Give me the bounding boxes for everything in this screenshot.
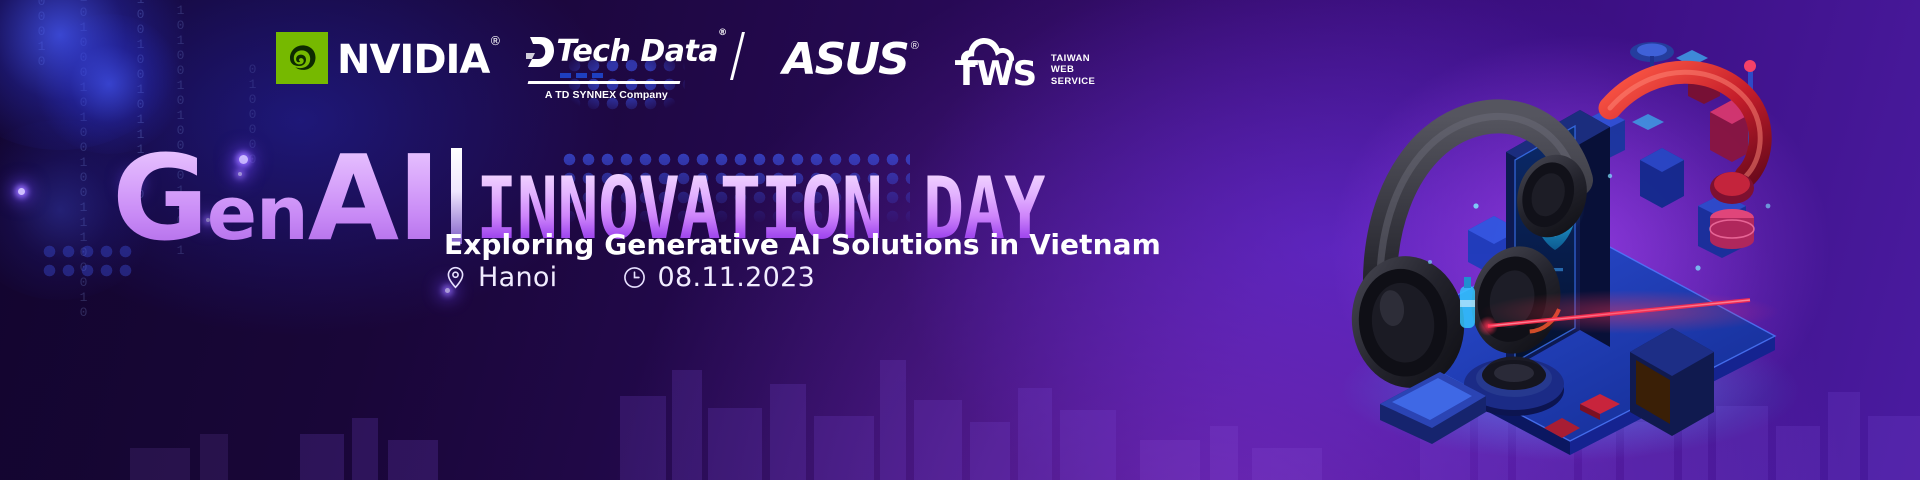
techdata-d-icon (526, 35, 556, 69)
city-skyline-silhouette (0, 330, 1920, 480)
event-date: 08.11.2023 (623, 262, 815, 293)
techdata-underline (528, 81, 681, 84)
tws-mark: TWS (955, 38, 1047, 90)
asus-wordmark: ASUS (783, 38, 908, 82)
event-location-label: Hanoi (478, 262, 557, 293)
techdata-bar-accent (560, 73, 726, 78)
nvidia-label: NVIDIA (337, 37, 489, 83)
event-meta-row: Hanoi 08.11.2023 (444, 262, 815, 293)
tws-tagline-line: SERVICE (1051, 76, 1095, 88)
registered-mark: ® (489, 34, 500, 48)
blue-glow (0, 0, 190, 150)
map-pin-icon (444, 266, 467, 289)
genai-en: en (207, 180, 308, 250)
clock-icon (623, 266, 646, 289)
partner-logo-nvidia[interactable]: NVIDIA® (276, 32, 500, 84)
registered-mark: ® (718, 28, 727, 38)
tws-tagline-line: TAIWAN (1051, 53, 1095, 65)
techdata-wordmark: Tech Data® (556, 37, 726, 67)
event-location: Hanoi (444, 262, 557, 293)
page-subtitle: Exploring Generative AI Solutions in Vie… (444, 228, 1161, 261)
techdata-label: Tech Data (556, 34, 718, 69)
genai-title: GenAI (112, 143, 439, 254)
techdata-slash-accent (730, 32, 745, 80)
techdata-tagline: A TD SYNNEX Company (526, 89, 686, 101)
event-date-label: 08.11.2023 (657, 262, 815, 293)
binary-column: 00010 (34, 0, 49, 69)
nvidia-eye-icon (276, 32, 328, 84)
binary-column: 1010001010010011100010 (76, 0, 91, 320)
ai-tech-illustration (1280, 0, 1920, 480)
tws-wordmark: TWS (955, 57, 1036, 91)
partner-logo-bar: NVIDIA® Tech Data® A TD SYNNEX Company (276, 32, 1095, 101)
nvidia-wordmark: NVIDIA® (337, 40, 500, 80)
tws-tagline: TAIWAN WEB SERVICE (1051, 53, 1095, 88)
partner-logo-tws[interactable]: TWS TAIWAN WEB SERVICE (955, 32, 1095, 90)
partner-logo-asus[interactable]: ASUS ® (783, 32, 919, 82)
registered-mark: ® (911, 40, 919, 52)
tws-tagline-line: WEB (1051, 64, 1095, 76)
light-particle (18, 188, 25, 195)
genai-g: G (112, 143, 207, 254)
partner-logo-techdata[interactable]: Tech Data® A TD SYNNEX Company (526, 32, 726, 101)
genai-ai: AI (308, 143, 439, 254)
genai-innovation-day-banner: 00010 1010001010010011100010 10010010111… (0, 0, 1920, 480)
